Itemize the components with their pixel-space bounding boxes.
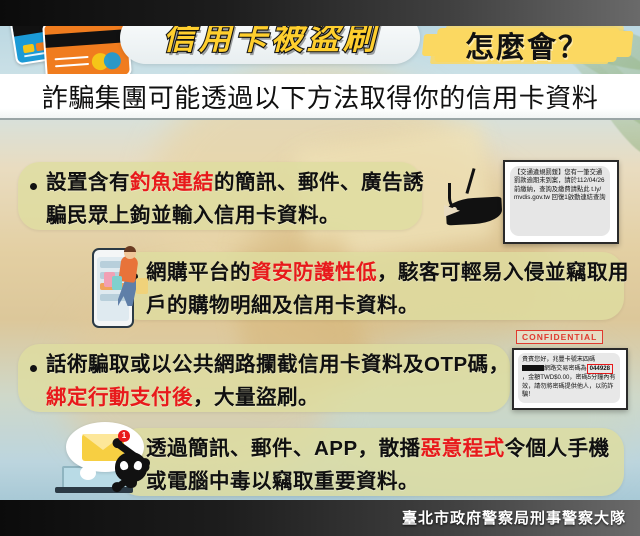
shopper-hair [124,246,136,252]
footer-agency: 臺北市政府警察局刑事警察大隊 [402,507,626,528]
infographic-poster: 信用卡被盜刷 怎麼會？ 詐騙集團可能透過以下方法取得你的信用卡資料 設置含有釣魚… [0,0,640,536]
otp-code: 044928 [587,364,613,374]
otp-sms-card: 貴賓您好，兆豐卡號末四碼網路交易密碼為044928，金額TWD$0.00，密碼5… [512,348,628,410]
subtitle-text: 詐騙集團可能透過以下方法取得你的信用卡資料 [42,78,599,115]
subtitle-band: 詐騙集團可能透過以下方法取得你的信用卡資料 [0,74,640,120]
skull-icon [115,452,147,482]
bullet-2-lead: 網購平台的 [146,261,251,284]
bullet-text-4: 透過簡訊、郵件、APP，散播惡意程式令個人手機或電腦中毒以竊取重要資料。 [146,432,630,498]
bullet-1-highlight: 釣魚連結 [130,171,214,194]
bullet-3-tail: ，大量盜刷。 [193,386,319,409]
bullet-3-lead: 話術騙取或以公共網路攔截信用卡資料及OTP碼， [46,353,510,376]
bullet-3-highlight: 綁定行動支付後 [46,386,193,409]
header-question: 怎麼會？ [436,24,618,66]
bullet-2-highlight: 資安防護性低 [251,261,377,284]
bullet-4-lead: 透過簡訊、郵件、APP，散播 [146,437,421,460]
otp-part2: 網路交易密碼為 [544,365,587,372]
shopping-bag-icon [136,278,148,294]
otp-part3: ，金額TWD$0.00，密碼5分鐘內有效，請勿將密碼提供他人，以防詐騙！ [522,374,615,397]
bullet-text-1: 設置含有釣魚連結的簡訊、郵件、廣告誘騙民眾上鉤並輸入信用卡資料。 [46,166,438,232]
bullet-text-2: 網購平台的資安防護性低，駭客可輕易入侵並竊取用戶的購物明細及信用卡資料。 [146,256,630,322]
bullet-dot [30,183,37,190]
bullet-1-lead: 設置含有 [46,171,130,194]
redaction-bar [522,365,544,371]
otp-part1: 貴賓您好，兆豐卡號末四碼 [522,356,595,363]
bullet-dot [30,365,37,372]
shopping-bag-icon [112,276,122,290]
notification-badge: 1 [118,430,130,442]
bullet-4-highlight: 惡意程式 [421,437,505,460]
confidential-stamp: CONFIDENTIAL [516,330,603,344]
credit-card-orange-icon [42,17,132,82]
otp-sms-text: 貴賓您好，兆豐卡號末四碼網路交易密碼為044928，金額TWD$0.00，密碼5… [518,353,620,403]
phishing-sms-card: 【交通違規罰鍰】您有一筆交通罰款逾期未到案，請於112/04/26前繳納，查詢及… [503,160,619,244]
bullet-text-3: 話術騙取或以公共網路攔截信用卡資料及OTP碼，綁定行動支付後，大量盜刷。 [46,348,516,414]
page-title: 信用卡被盜刷 [130,21,412,55]
top-bar [0,0,640,26]
phishing-sms-text: 【交通違規罰鍰】您有一筆交通罰款逾期未到案，請於112/04/26前繳納，查詢及… [510,166,610,236]
